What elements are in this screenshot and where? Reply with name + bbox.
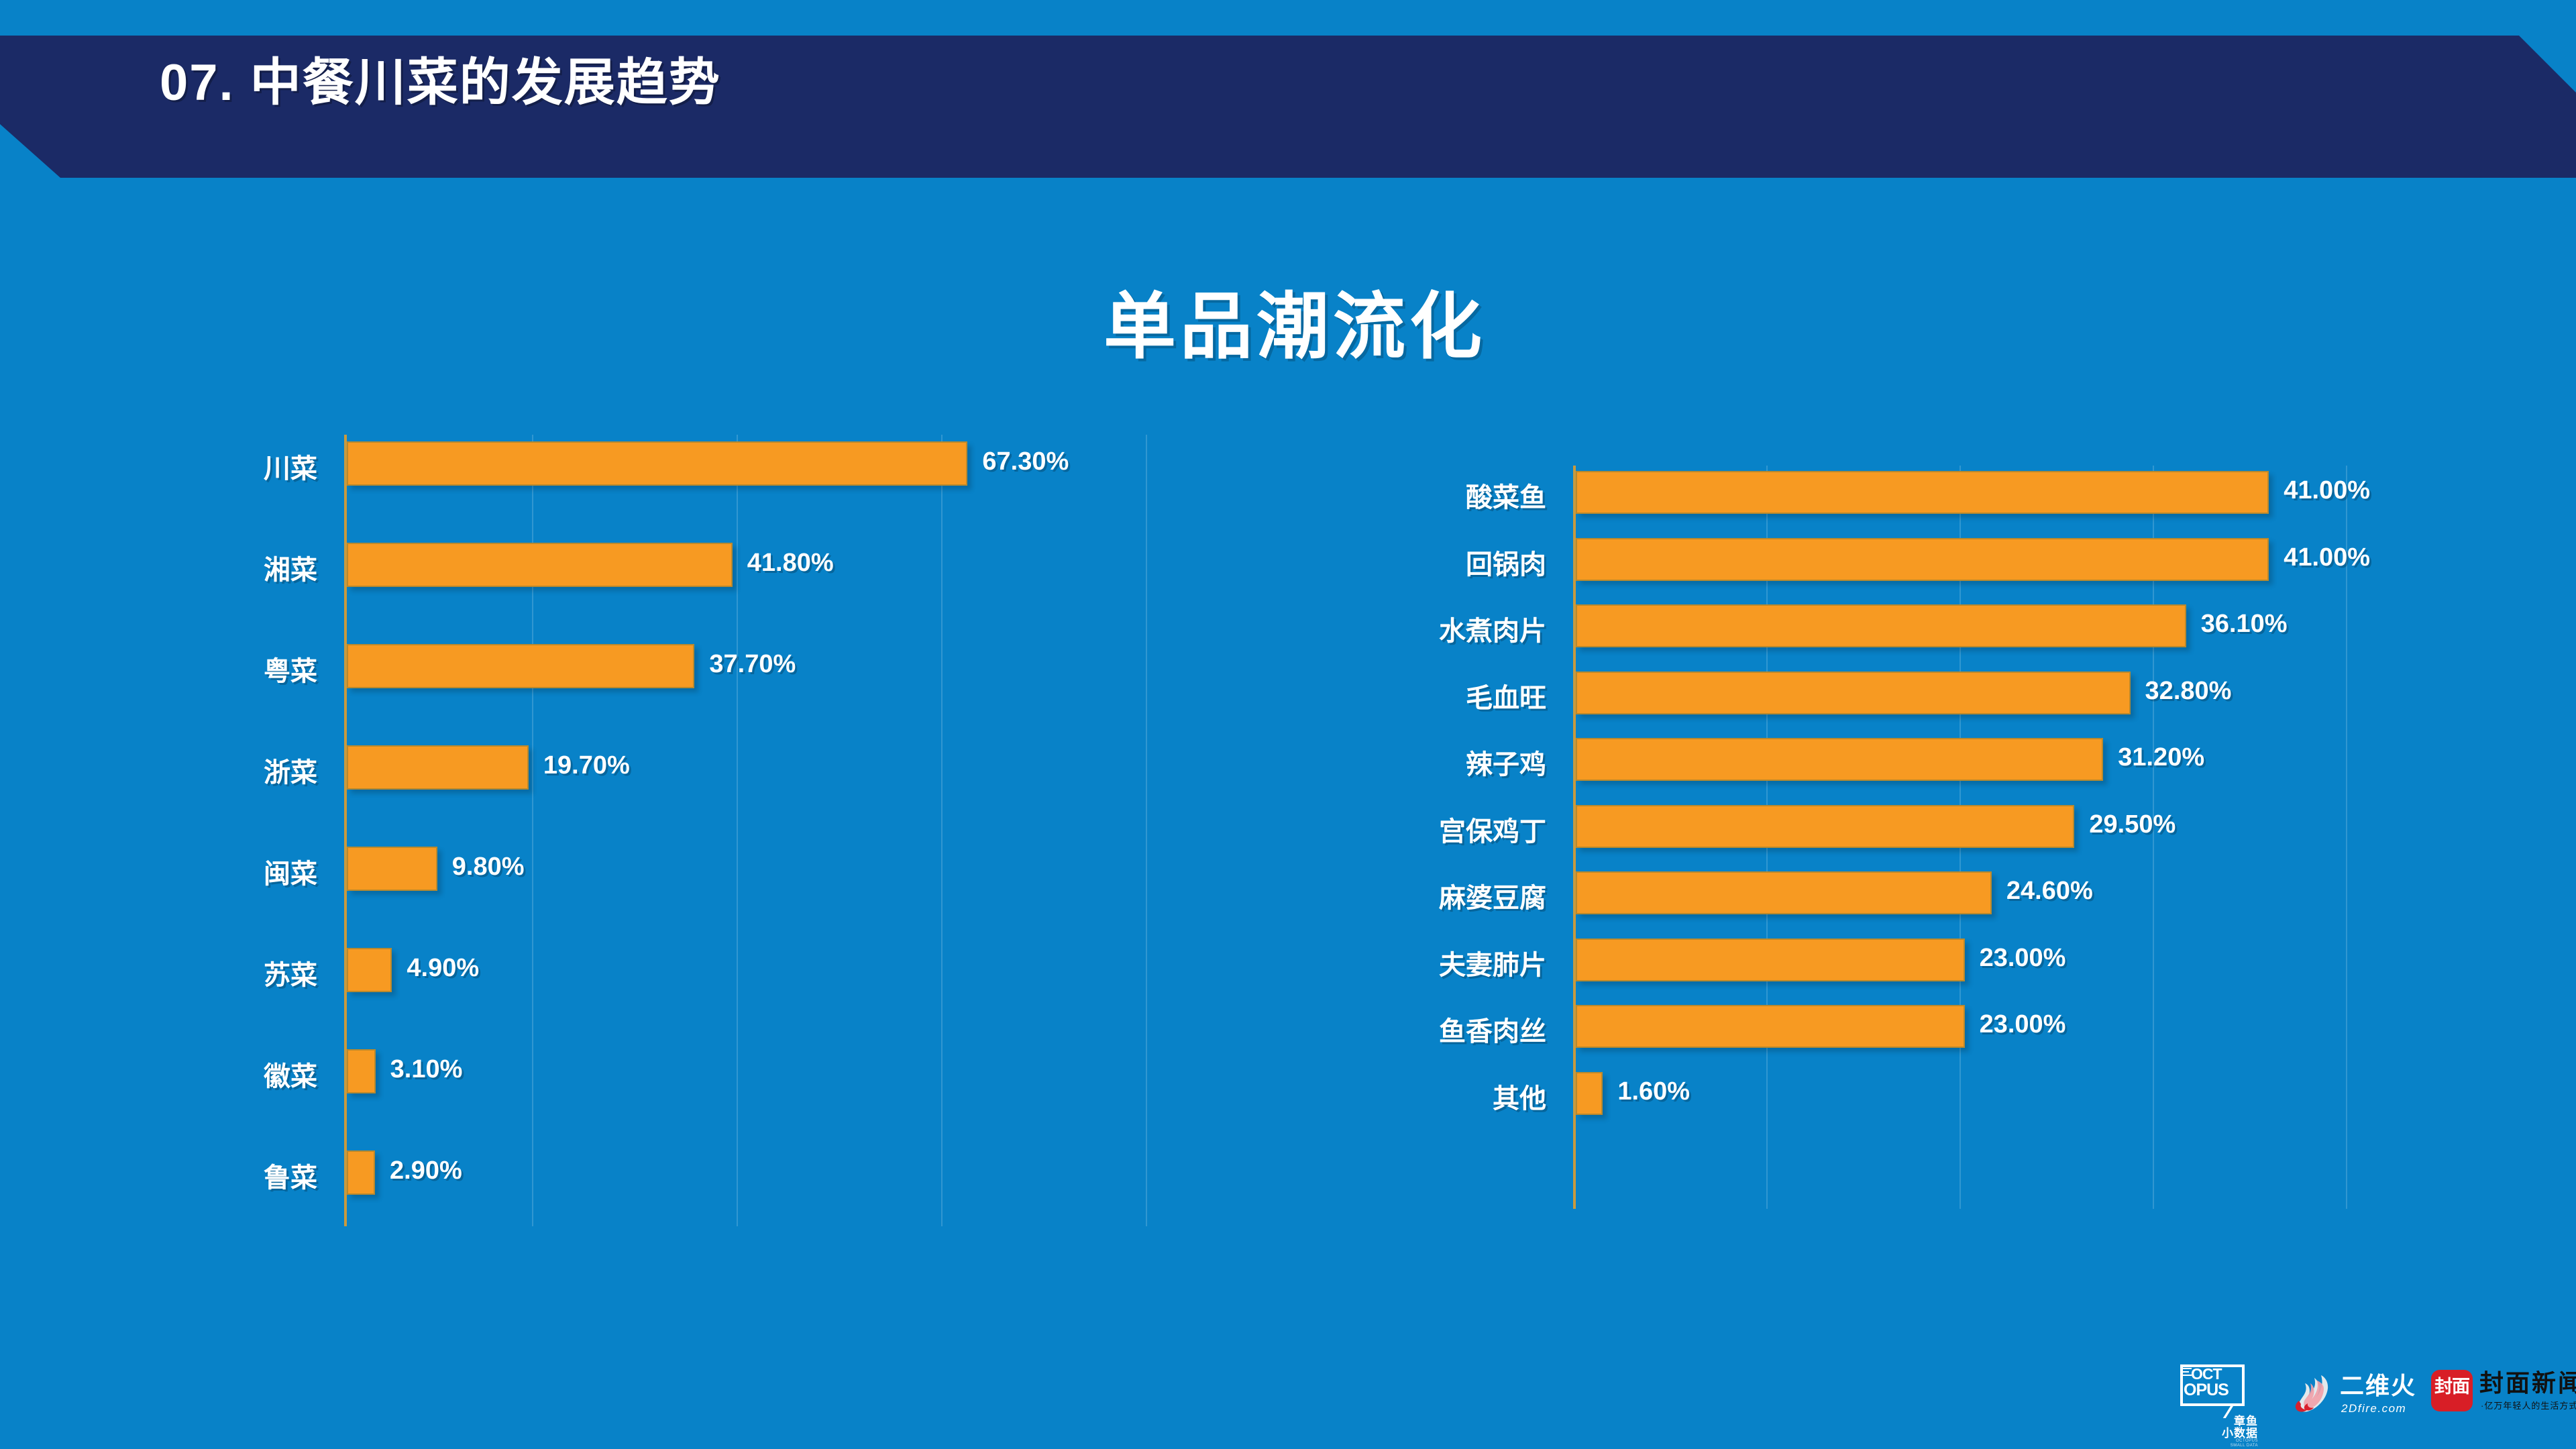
value-label: 29.50% (2089, 810, 2176, 839)
category-label: 湘菜 (143, 548, 317, 587)
category-label: 粤菜 (143, 649, 317, 688)
bar (1576, 1072, 1603, 1115)
value-label: 9.80% (452, 853, 525, 881)
twodfire-logo: 二维火 2Dfire.com (2294, 1373, 2415, 1429)
octopus-english-line1: OCTOPUS (2220, 1439, 2258, 1444)
value-label: 1.60% (1617, 1077, 1690, 1106)
category-label: 苏菜 (143, 953, 317, 992)
bar (1576, 604, 2186, 647)
category-label: 水煮肉片 (1345, 609, 1546, 648)
bar (347, 644, 694, 688)
gridline (737, 435, 738, 1226)
twodfire-domain: 2Dfire.com (2341, 1403, 2406, 1414)
slide-canvas: 07. 中餐川菜的发展趋势 单品潮流化 川菜67.30%湘菜41.80%粤菜37… (0, 0, 2576, 1449)
gridline (1146, 435, 1147, 1226)
bar (347, 1150, 375, 1195)
fengmian-logo: 封面 封面新闻 ·亿万年轻人的生活方式· (2431, 1370, 2572, 1432)
octopus-chinese-line1: 章鱼 (2208, 1415, 2258, 1428)
flame-icon (2294, 1374, 2336, 1414)
category-label: 酸菜鱼 (1345, 476, 1546, 515)
value-label: 2.90% (390, 1157, 462, 1185)
bar (347, 745, 529, 790)
value-label: 37.70% (709, 650, 796, 679)
bar (1576, 672, 2131, 714)
bar (1576, 471, 2269, 514)
fengmian-tagline: ·亿万年轻人的生活方式· (2481, 1401, 2576, 1410)
footer-logos: OCT OPUS 章鱼 小数据 OCTOPUS SMALL DATA 二维火 2… (2179, 1360, 2572, 1446)
category-label: 闽菜 (143, 852, 317, 891)
value-label: 19.70% (543, 751, 630, 780)
value-label: 31.20% (2118, 743, 2204, 772)
bar (347, 1049, 376, 1093)
fengmian-badge-text: 封面 (2431, 1378, 2473, 1396)
octopus-word-bottom: OPUS (2184, 1382, 2229, 1399)
octopus-english-name: OCTOPUS SMALL DATA (2220, 1439, 2258, 1448)
value-label: 67.30% (982, 447, 1069, 476)
category-label: 鲁菜 (143, 1156, 317, 1195)
category-label: 毛血旺 (1345, 676, 1546, 715)
value-label: 41.00% (2284, 543, 2370, 572)
octopus-logo: OCT OPUS 章鱼 小数据 OCTOPUS SMALL DATA (2179, 1363, 2263, 1446)
value-label: 32.80% (2145, 677, 2232, 706)
octopus-chinese-line2: 小数据 (2208, 1428, 2258, 1440)
value-label: 23.00% (1980, 1010, 2066, 1039)
category-label: 徽菜 (143, 1055, 317, 1093)
octopus-chinese-name: 章鱼 小数据 (2208, 1415, 2258, 1440)
octopus-english-line2: SMALL DATA (2220, 1444, 2258, 1448)
value-label: 41.00% (2284, 476, 2370, 505)
bar (347, 543, 733, 587)
value-label: 24.60% (2006, 877, 2093, 906)
category-label: 辣子鸡 (1345, 743, 1546, 782)
value-label: 3.10% (390, 1055, 463, 1084)
value-label: 36.10% (2201, 610, 2288, 639)
value-label: 41.80% (747, 549, 834, 578)
category-label: 夫妻肺片 (1345, 943, 1546, 982)
bar (347, 441, 967, 486)
category-label: 鱼香肉丝 (1345, 1010, 1546, 1049)
chart-dish-popularity: 酸菜鱼41.00%回锅肉41.00%水煮肉片36.10%毛血旺32.80%辣子鸡… (1573, 466, 2445, 1257)
category-label: 浙菜 (143, 751, 317, 790)
value-label: 23.00% (1980, 944, 2066, 973)
twodfire-chinese-name: 二维火 (2340, 1374, 2416, 1398)
bar (1576, 1005, 1965, 1048)
bar (1576, 738, 2103, 781)
gridline (941, 435, 943, 1226)
category-label: 麻婆豆腐 (1345, 876, 1546, 915)
fengmian-name: 封面新闻 (2479, 1371, 2576, 1395)
page-title: 07. 中餐川菜的发展趋势 (160, 56, 721, 110)
category-label: 川菜 (143, 447, 317, 486)
bar (1576, 938, 1965, 981)
category-label: 宫保鸡丁 (1345, 810, 1546, 849)
gridline (2346, 466, 2347, 1209)
chart-cuisine-popularity: 川菜67.30%湘菜41.80%粤菜37.70%浙菜19.70%闽菜9.80%苏… (344, 435, 1149, 1253)
bar (1576, 805, 2074, 848)
category-label: 回锅肉 (1345, 543, 1546, 582)
bar (347, 948, 392, 992)
category-label: 其他 (1345, 1077, 1546, 1116)
bar (1576, 538, 2269, 581)
value-label: 4.90% (407, 954, 479, 983)
section-heading: 单品潮流化 (912, 268, 1677, 373)
octopus-word-top: OCT (2191, 1366, 2222, 1382)
bar (1576, 871, 1992, 914)
fengmian-badge-icon: 封面 (2431, 1370, 2473, 1411)
bar (347, 847, 437, 891)
